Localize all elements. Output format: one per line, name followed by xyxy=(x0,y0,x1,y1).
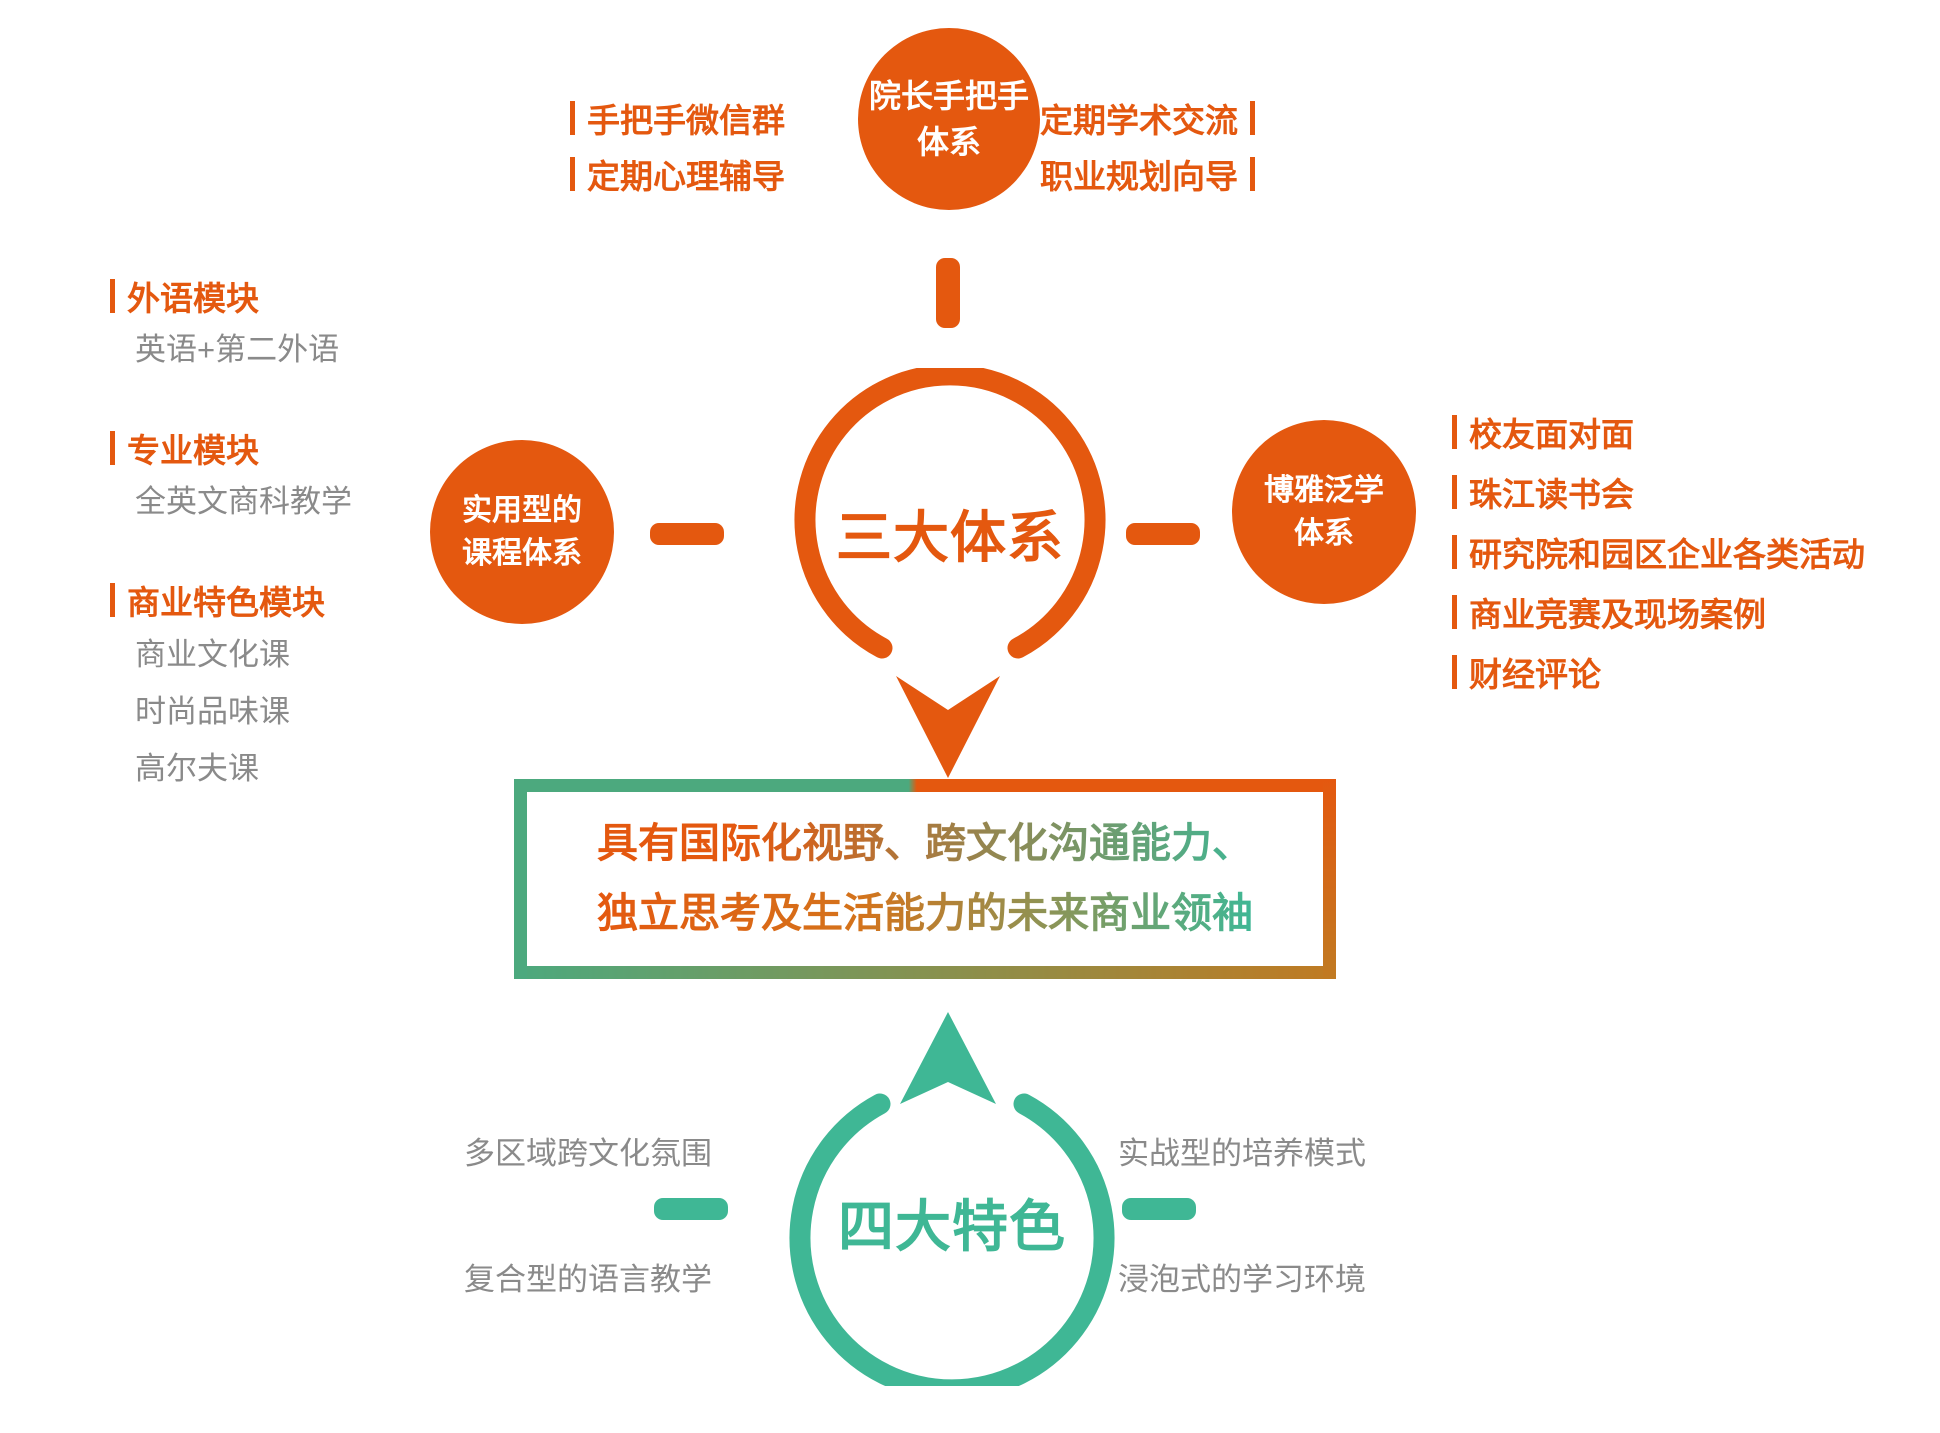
bullet-bar-icon xyxy=(110,583,115,617)
top-left-item-1: 手把手微信群 xyxy=(570,90,785,146)
three-systems-ring-label: 三大体系 xyxy=(760,493,1140,574)
mission-statement-text: 具有国际化视野、跨文化沟通能力、 独立思考及生活能力的未来商业领袖 xyxy=(597,809,1253,948)
right-item-3-label: 研究院和园区企业各类活动 xyxy=(1469,528,1865,576)
center-left-circle: 实用型的 课程体系 xyxy=(430,440,614,624)
left-module-3-title-label: 商业特色模块 xyxy=(127,576,325,624)
bullet-bar-icon xyxy=(1250,101,1255,135)
bullet-bar-icon xyxy=(1452,595,1457,629)
bullet-bar-icon xyxy=(1452,655,1457,689)
top-vertical-connector xyxy=(936,258,960,328)
top-right-item-1: 定期学术交流 xyxy=(1040,90,1255,146)
top-right-item-1-label: 定期学术交流 xyxy=(1040,94,1238,142)
left-module-2: 专业模块 全英文商科教学 xyxy=(110,422,352,530)
bullet-bar-icon xyxy=(1452,415,1457,449)
right-item-2: 珠江读书会 xyxy=(1452,462,1865,522)
bottom-right-item-1: 实战型的培养模式 xyxy=(1118,1128,1366,1173)
top-right-item-2-label: 职业规划向导 xyxy=(1040,150,1238,198)
center-left-circle-line-2: 课程体系 xyxy=(462,532,582,576)
left-module-3: 商业特色模块 商业文化课 时尚品味课 高尔夫课 xyxy=(110,574,352,797)
center-right-circle-line-1: 博雅泛学 xyxy=(1264,469,1384,513)
bullet-bar-icon xyxy=(570,157,575,191)
infographic-canvas: 院长手把手 体系 手把手微信群 定期心理辅导 定期学术交流 职业规划向导 xyxy=(0,0,1940,1433)
mission-line-2: 独立思考及生活能力的未来商业领袖 xyxy=(597,879,1253,949)
right-item-1-label: 校友面对面 xyxy=(1469,408,1634,456)
left-module-3-title: 商业特色模块 xyxy=(110,574,352,626)
mission-line-1: 具有国际化视野、跨文化沟通能力、 xyxy=(597,809,1253,879)
left-module-3-item-2: 时尚品味课 xyxy=(110,683,352,740)
left-module-2-title: 专业模块 xyxy=(110,422,352,474)
bullet-bar-icon xyxy=(110,431,115,465)
center-right-circle: 博雅泛学 体系 xyxy=(1232,420,1416,604)
bottom-left-item-1: 多区域跨文化氛围 xyxy=(464,1128,712,1173)
right-item-5: 财经评论 xyxy=(1452,642,1865,702)
bottom-left-connector xyxy=(654,1198,728,1220)
center-left-circle-line-1: 实用型的 xyxy=(462,489,582,533)
left-module-1: 外语模块 英语+第二外语 xyxy=(110,270,352,378)
left-module-2-title-label: 专业模块 xyxy=(127,424,259,472)
bottom-right-item-2: 浸泡式的学习环境 xyxy=(1118,1254,1366,1299)
bullet-bar-icon xyxy=(570,101,575,135)
top-right-item-2: 职业规划向导 xyxy=(1040,146,1255,202)
right-item-4-label: 商业竞赛及现场案例 xyxy=(1469,588,1766,636)
top-right-item-list: 定期学术交流 职业规划向导 xyxy=(1040,90,1255,202)
left-module-3-item-3: 高尔夫课 xyxy=(110,740,352,797)
center-right-circle-line-2: 体系 xyxy=(1294,512,1354,556)
right-item-list: 校友面对面 珠江读书会 研究院和园区企业各类活动 商业竞赛及现场案例 财经评论 xyxy=(1452,402,1865,702)
top-system-circle-line-1: 院长手把手 xyxy=(869,73,1029,119)
bullet-bar-icon xyxy=(1452,475,1457,509)
bullet-bar-icon xyxy=(1452,535,1457,569)
left-module-1-title: 外语模块 xyxy=(110,270,352,322)
left-module-1-item-1: 英语+第二外语 xyxy=(110,322,352,378)
left-module-1-title-label: 外语模块 xyxy=(127,272,259,320)
right-item-2-label: 珠江读书会 xyxy=(1469,468,1634,516)
right-item-5-label: 财经评论 xyxy=(1469,648,1601,696)
top-system-circle-line-2: 体系 xyxy=(917,119,981,165)
bottom-right-connector xyxy=(1122,1198,1196,1220)
center-right-connector xyxy=(1126,523,1200,545)
right-item-3: 研究院和园区企业各类活动 xyxy=(1452,522,1865,582)
bottom-left-item-2: 复合型的语言教学 xyxy=(464,1254,712,1299)
bullet-bar-icon xyxy=(110,279,115,313)
top-left-item-1-label: 手把手微信群 xyxy=(587,94,785,142)
right-item-4: 商业竞赛及现场案例 xyxy=(1452,582,1865,642)
center-left-connector xyxy=(650,523,724,545)
left-module-3-item-1: 商业文化课 xyxy=(110,626,352,683)
bullet-bar-icon xyxy=(1250,157,1255,191)
top-left-item-list: 手把手微信群 定期心理辅导 xyxy=(570,90,785,202)
top-system-circle: 院长手把手 体系 xyxy=(858,28,1040,210)
right-item-1: 校友面对面 xyxy=(1452,402,1865,462)
top-left-item-2: 定期心理辅导 xyxy=(570,146,785,202)
mission-statement-box: 具有国际化视野、跨文化沟通能力、 独立思考及生活能力的未来商业领袖 xyxy=(514,779,1336,979)
four-features-ring-label: 四大特色 xyxy=(752,1182,1152,1263)
left-module-list: 外语模块 英语+第二外语 专业模块 全英文商科教学 商业特色模块 商业文化课 时… xyxy=(110,270,352,797)
down-arrow-icon xyxy=(888,672,1008,782)
left-module-2-item-1: 全英文商科教学 xyxy=(110,474,352,530)
top-left-item-2-label: 定期心理辅导 xyxy=(587,150,785,198)
